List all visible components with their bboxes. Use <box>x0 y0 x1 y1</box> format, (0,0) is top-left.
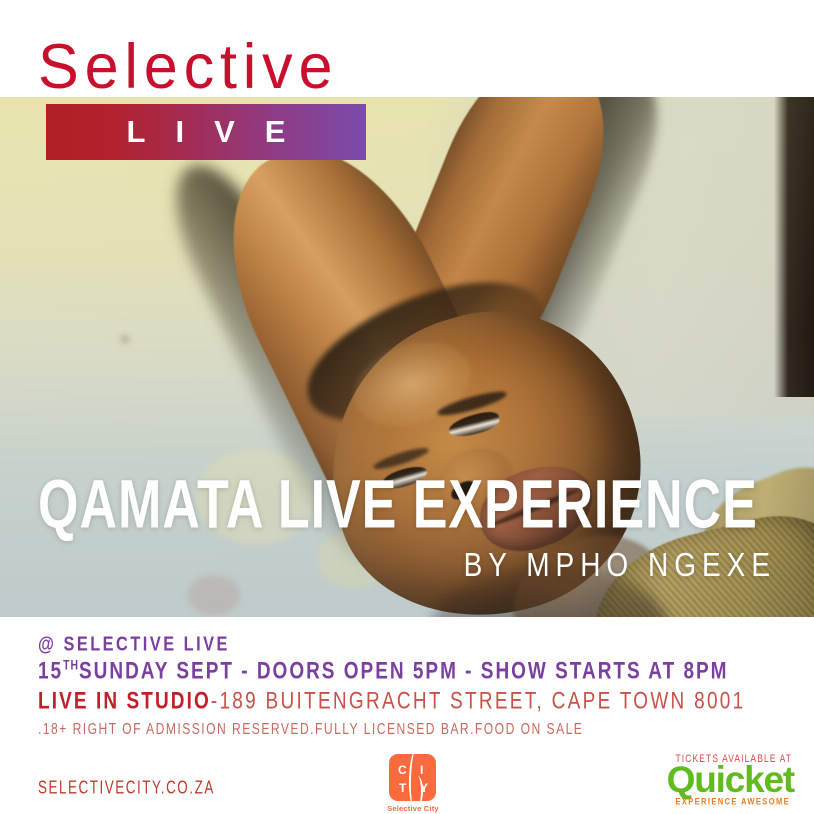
event-poster: Selective LIVE QAMATA LIVE EXPERIENCE BY… <box>0 0 814 814</box>
event-artist: BY MPHO NGEXE <box>0 546 776 584</box>
event-title: QAMATA LIVE EXPERIENCE <box>38 470 726 538</box>
brand-logo: Selective LIVE <box>0 0 814 170</box>
detail-address-venue: LIVE IN STUDIO <box>38 688 211 715</box>
brand-wordmark: Selective <box>38 36 338 99</box>
sc-divider-curve-lower-icon <box>412 776 423 801</box>
selective-city-caption: Selective City <box>383 804 443 813</box>
poster-footer: SELECTIVECITY.CO.ZA C I T Y Selective Ci… <box>0 740 814 814</box>
detail-date-ordinal: TH <box>63 658 79 673</box>
quicket-wordmark: Quicket <box>652 761 794 798</box>
event-details: @ SELECTIVE LIVE 15THSUNDAY SEPT - DOORS… <box>38 632 778 734</box>
detail-date-day: 15 <box>38 658 63 685</box>
brand-live-bar: LIVE <box>46 104 366 160</box>
detail-date-time: 15THSUNDAY SEPT - DOORS OPEN 5PM - SHOW … <box>38 658 741 686</box>
detail-address-street: -189 BUITENGRACHT STREET, CAPE TOWN 8001 <box>211 688 746 715</box>
detail-venue: @ SELECTIVE LIVE <box>38 632 748 656</box>
detail-terms: .18+ RIGHT OF ADMISSION RESERVED.FULLY L… <box>38 720 756 738</box>
website-url[interactable]: SELECTIVECITY.CO.ZA <box>38 776 215 798</box>
selective-city-logo[interactable]: C I T Y Selective City <box>383 754 443 814</box>
photo-wall-speck <box>120 335 130 343</box>
selective-city-mark-icon: C I T Y <box>389 754 436 801</box>
brand-live-label: LIVE <box>46 104 366 160</box>
quicket-logo[interactable]: TICKETS AVAILABLE AT Quicket EXPERIENCE … <box>652 752 792 810</box>
detail-address: LIVE IN STUDIO-189 BUITENGRACHT STREET, … <box>38 688 741 716</box>
sc-letter-c: C <box>398 764 407 776</box>
sc-letter-t: T <box>399 782 406 794</box>
quicket-tagline-bottom: EXPERIENCE AWESOME <box>652 796 790 807</box>
detail-date-rest: SUNDAY SEPT - DOORS OPEN 5PM - SHOW STAR… <box>79 658 729 685</box>
